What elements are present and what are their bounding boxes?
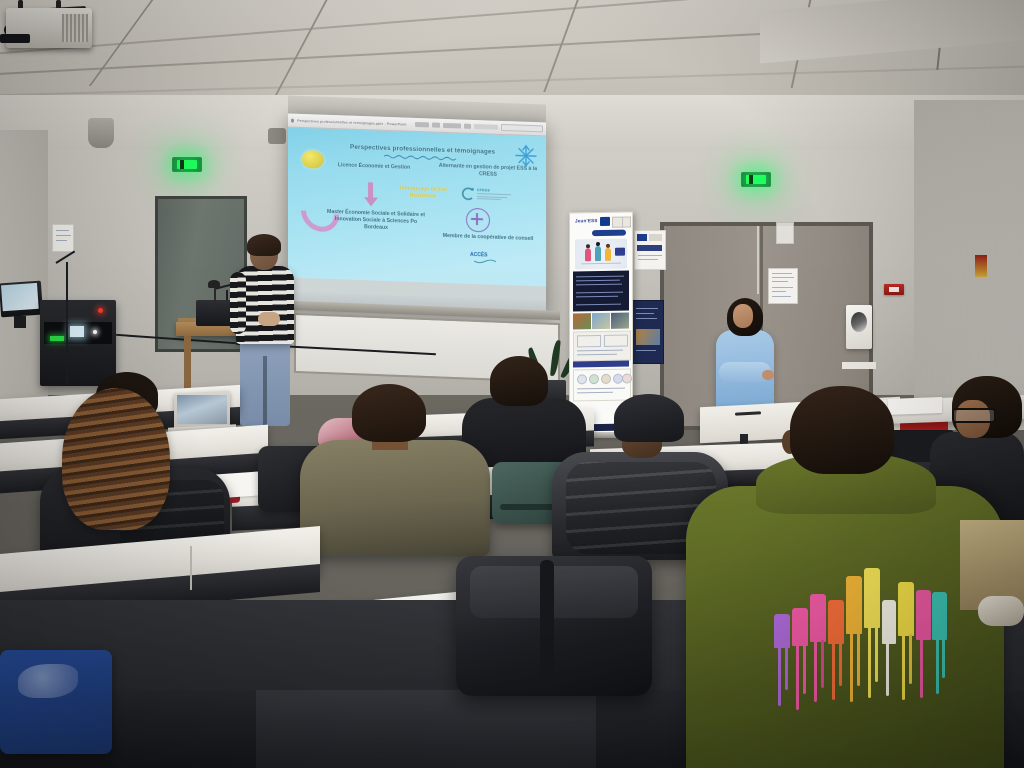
- ceiling-speaker-secondary: [268, 128, 286, 144]
- slide-item-licence: Licence Économie et Gestion: [326, 162, 422, 173]
- banner-info-boxes: [573, 330, 631, 361]
- snowflake-icon: [514, 143, 538, 168]
- mic-stand-left: [66, 262, 68, 384]
- wall-poster-top: [634, 230, 666, 270]
- banner-blue-bar: [573, 361, 629, 368]
- banner-partner-logos: [573, 368, 631, 401]
- desk-mic-stem: [214, 286, 216, 308]
- slide-title: Perspectives professionnelles et témoign…: [350, 144, 495, 156]
- banner-text-block: [573, 271, 629, 312]
- banner-photo-3: [611, 313, 629, 329]
- arrow-down-icon: [364, 197, 378, 206]
- squiggle-underline-icon: [384, 154, 458, 162]
- slide-canvas: Perspectives professionnelles et témoign…: [288, 127, 546, 286]
- blue-bag-logo: [18, 664, 78, 698]
- wall-poster-bottom: [632, 300, 664, 364]
- door-notice-sign: [768, 268, 798, 304]
- fire-alarm-button[interactable]: [889, 287, 899, 292]
- dispenser-lens-icon: [851, 312, 867, 332]
- exit-sign-right-icon: [741, 172, 771, 187]
- banner-photo-2: [592, 313, 610, 329]
- slide-item-alternante: Alternante en gestion de projet ESS à la…: [436, 163, 540, 181]
- door-cable: [757, 226, 759, 294]
- wall-poster-left: [52, 224, 74, 252]
- backpack-strap: [540, 560, 554, 690]
- app-bar-title: Perspectives professionnelles et temoign…: [297, 118, 406, 126]
- backpack-flap: [470, 566, 638, 618]
- monitor-screen: [1, 283, 39, 311]
- floor-panel: [256, 690, 596, 768]
- ceiling-speaker: [88, 118, 114, 148]
- banner-photo-1: [573, 313, 591, 329]
- av-led-white: [93, 330, 97, 334]
- monitor-stand: [14, 316, 26, 328]
- bench-seam: [190, 546, 192, 590]
- exit-sign-left-icon: [172, 157, 202, 172]
- banner-title-pill: [592, 230, 626, 237]
- slide-item-master: Master Économie Sociale et Solidaire et …: [324, 209, 428, 234]
- eyeglasses-icon: [952, 408, 996, 423]
- av-led-green: [50, 336, 64, 341]
- acces-underline-icon: [474, 258, 496, 266]
- app-icon: [291, 118, 294, 122]
- hoodie-drip-graphic: [770, 560, 950, 710]
- cress-mark-icon: [460, 186, 476, 203]
- dispenser-drip-tray: [842, 362, 876, 369]
- arrow-shaft: [368, 182, 373, 198]
- wall-monitor: [0, 281, 43, 318]
- paper-sheet-right: [888, 397, 942, 415]
- projection-screen: Perspectives professionnelles et temoign…: [288, 113, 546, 314]
- av-disc-tray-light: [70, 326, 84, 337]
- plus-circle-icon: [466, 208, 488, 231]
- lecture-hall-photo: Perspectives professionnelles et temoign…: [0, 0, 1024, 768]
- av-led-red: [98, 308, 103, 313]
- shoe: [978, 596, 1024, 626]
- slide-item-temoignage: Témoignage de Eve Heurtebise: [392, 185, 454, 202]
- cress-logo-text: cress: [477, 187, 490, 192]
- slide-item-membre: Membre de la coopérative de conseil: [438, 233, 538, 244]
- cress-logo-group: cress: [460, 186, 518, 204]
- lemon-shape-icon: [302, 150, 324, 169]
- banner-illustration: [575, 239, 627, 270]
- desk-mic-head-icon: [208, 280, 220, 288]
- wall-poster-small: [776, 222, 794, 244]
- teal-bag-strap: [500, 504, 560, 510]
- fire-equipment-sign: [975, 255, 987, 277]
- banner-logo-text: Jeun'ESS: [575, 218, 598, 223]
